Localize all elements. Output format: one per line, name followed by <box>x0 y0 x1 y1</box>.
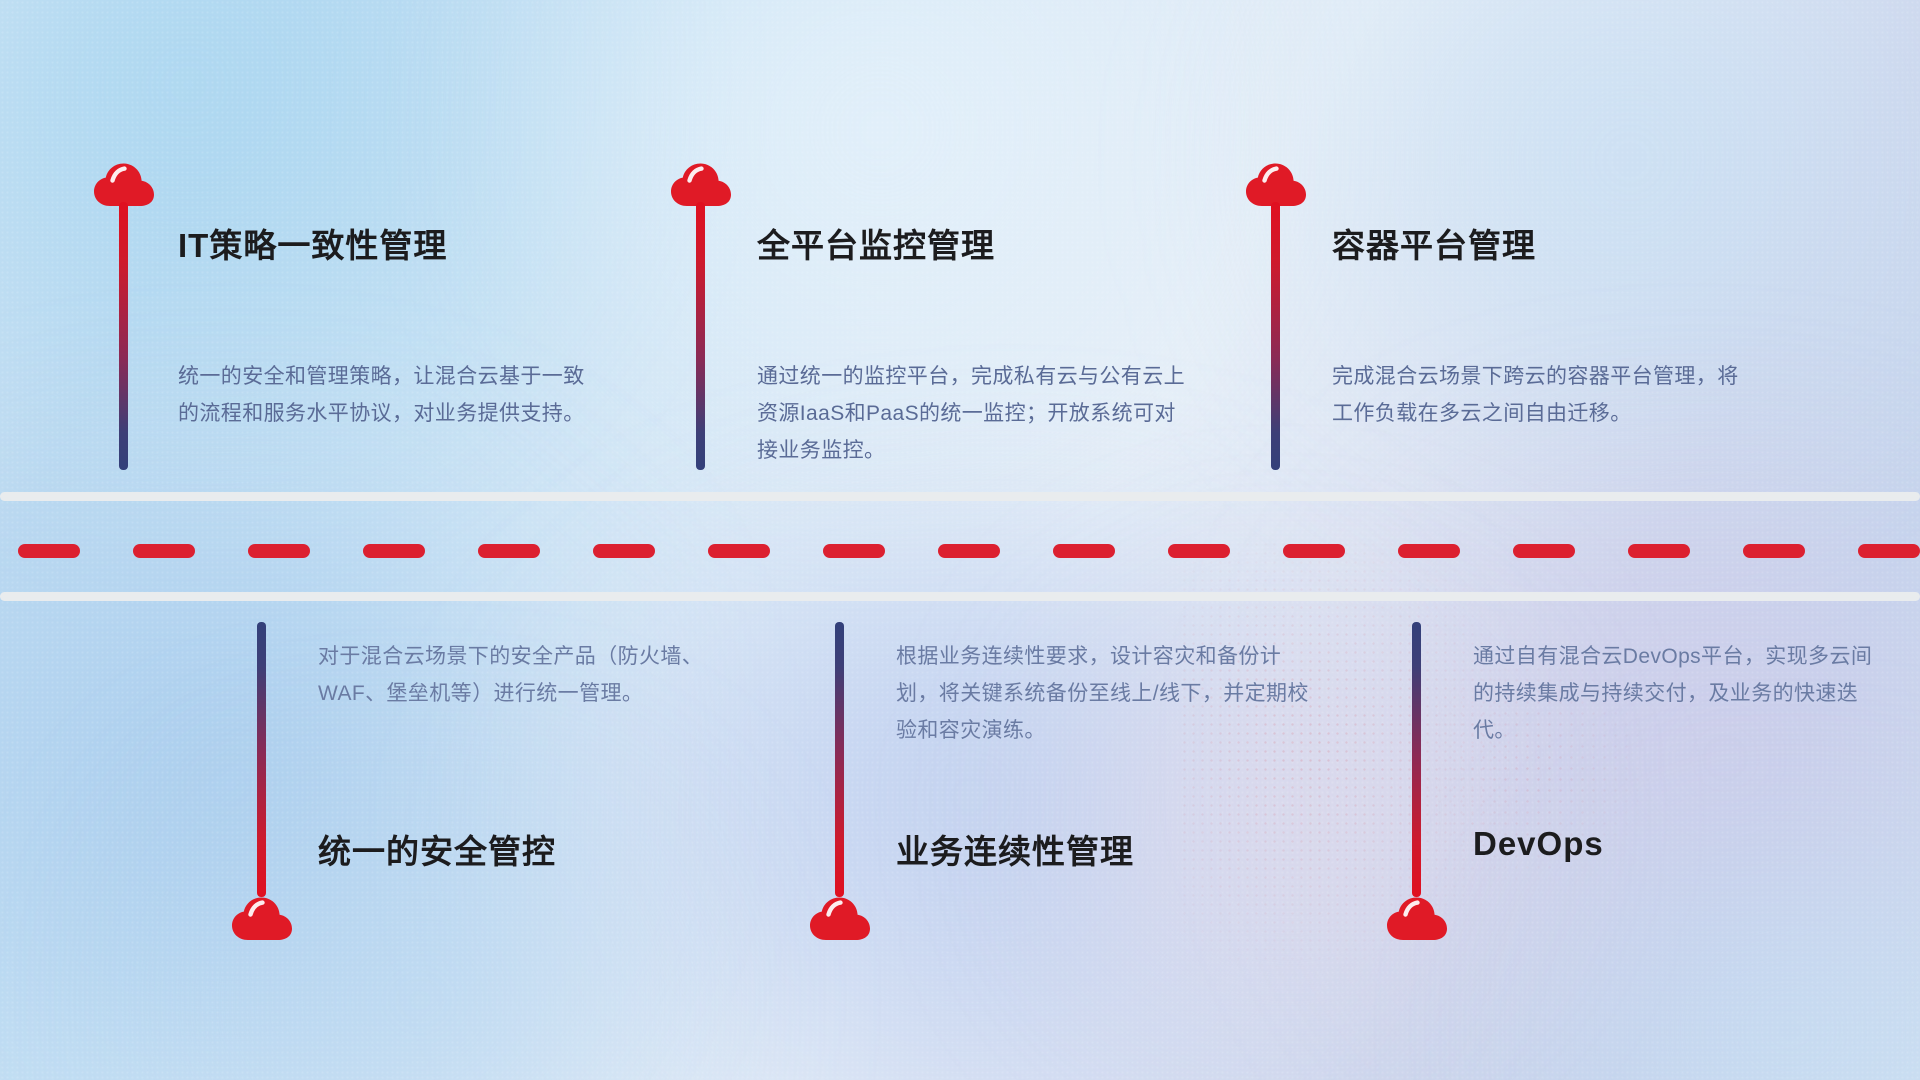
card-body: 通过统一的监控平台，完成私有云与公有云上资源IaaS和PaaS的统一监控；开放系… <box>757 358 1192 469</box>
connector-bar <box>1412 622 1421 897</box>
road-dash-segment <box>938 544 1000 558</box>
cloud-pin-icon <box>809 894 871 942</box>
road-dash-segment <box>18 544 80 558</box>
cloud-pin-icon <box>1245 160 1307 208</box>
road-dash-segment <box>1513 544 1575 558</box>
card-title: 业务连续性管理 <box>896 825 1134 873</box>
road-dash-segment <box>248 544 310 558</box>
cloud-pin-icon <box>231 894 293 942</box>
connector-bar <box>1271 202 1280 470</box>
card-body: 统一的安全和管理策略，让混合云基于一致的流程和服务水平协议，对业务提供支持。 <box>178 358 598 432</box>
connector-bar <box>835 622 844 897</box>
road-edge-top <box>0 492 1920 501</box>
card-body: 完成混合云场景下跨云的容器平台管理，将工作负载在多云之间自由迁移。 <box>1332 358 1752 432</box>
card-title: 容器平台管理 <box>1332 219 1536 267</box>
cloud-pin-icon <box>1386 894 1448 942</box>
connector-bar <box>696 202 705 470</box>
card-title: IT策略一致性管理 <box>178 219 447 267</box>
road-center-dashed-line <box>0 544 1920 558</box>
card-title: 统一的安全管控 <box>318 825 556 873</box>
road-dash-segment <box>593 544 655 558</box>
road-dash-segment <box>1858 544 1920 558</box>
card-body: 根据业务连续性要求，设计容灾和备份计划，将关键系统备份至线上/线下，并定期校验和… <box>896 638 1316 749</box>
road-dash-segment <box>478 544 540 558</box>
road-dash-segment <box>133 544 195 558</box>
road-dash-segment <box>823 544 885 558</box>
road-dash-segment <box>1628 544 1690 558</box>
connector-bar <box>119 202 128 470</box>
cloud-pin-icon <box>670 160 732 208</box>
road-dash-segment <box>1053 544 1115 558</box>
cloud-pin-icon <box>93 160 155 208</box>
card-body: 对于混合云场景下的安全产品（防火墙、WAF、堡垒机等）进行统一管理。 <box>318 638 738 712</box>
road-dash-segment <box>363 544 425 558</box>
road-dash-segment <box>1743 544 1805 558</box>
infographic-canvas: IT策略一致性管理 统一的安全和管理策略，让混合云基于一致的流程和服务水平协议，… <box>0 0 1920 1080</box>
card-title: 全平台监控管理 <box>757 219 995 267</box>
card-body: 通过自有混合云DevOps平台，实现多云间的持续集成与持续交付，及业务的快速迭代… <box>1473 638 1893 749</box>
connector-bar <box>257 622 266 897</box>
road-dash-segment <box>1283 544 1345 558</box>
road-dash-segment <box>1168 544 1230 558</box>
card-title: DevOps <box>1473 825 1604 863</box>
road-dash-segment <box>708 544 770 558</box>
road-edge-bottom <box>0 592 1920 601</box>
road-dash-segment <box>1398 544 1460 558</box>
